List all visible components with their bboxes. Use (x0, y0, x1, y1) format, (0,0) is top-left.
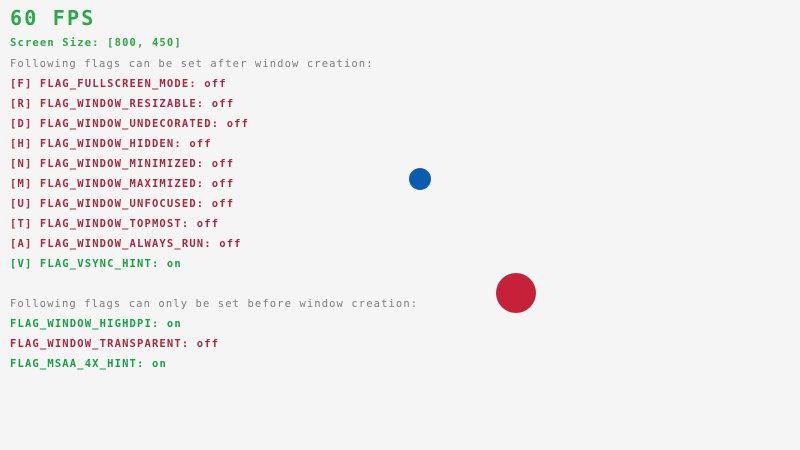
flag-shortcut-key: [H] (10, 138, 40, 150)
flag-shortcut-key: [T] (10, 218, 40, 230)
flag-name: FLAG_WINDOW_ALWAYS_RUN: (40, 238, 219, 250)
flag-shortcut-key: [A] (10, 238, 40, 250)
flag-value: off (204, 78, 226, 90)
flag-value: off (197, 338, 219, 350)
screen-size-label: Screen Size: [800, 450] (10, 38, 182, 49)
flag-name: FLAG_MSAA_4X_HINT: (10, 358, 152, 370)
flag-flag-window-resizable[interactable]: [R] FLAG_WINDOW_RESIZABLE: off (10, 99, 234, 110)
flag-value: on (167, 318, 182, 330)
flag-name: FLAG_WINDOW_UNDECORATED: (40, 118, 227, 130)
flag-name: FLAG_WINDOW_MINIMIZED: (40, 158, 212, 170)
flag-value: off (227, 118, 249, 130)
flag-flag-window-undecorated[interactable]: [D] FLAG_WINDOW_UNDECORATED: off (10, 119, 249, 130)
flag-name: FLAG_WINDOW_RESIZABLE: (40, 98, 212, 110)
flag-shortcut-key: [R] (10, 98, 40, 110)
flag-shortcut-key: [D] (10, 118, 40, 130)
raylib-window-canvas: 60 FPS Screen Size: [800, 450] Following… (0, 0, 800, 450)
flag-name: FLAG_WINDOW_MAXIMIZED: (40, 178, 212, 190)
flag-shortcut-key: [V] (10, 258, 40, 270)
flag-flag-window-transparent: FLAG_WINDOW_TRANSPARENT: off (10, 339, 219, 350)
flag-flag-fullscreen-mode[interactable]: [F] FLAG_FULLSCREEN_MODE: off (10, 79, 227, 90)
flag-value: off (212, 158, 234, 170)
flag-name: FLAG_WINDOW_HIDDEN: (40, 138, 189, 150)
flag-value: off (212, 198, 234, 210)
flag-flag-window-always-run[interactable]: [A] FLAG_WINDOW_ALWAYS_RUN: off (10, 239, 242, 250)
flag-flag-vsync-hint[interactable]: [V] FLAG_VSYNC_HINT: on (10, 259, 182, 270)
flag-flag-window-maximized[interactable]: [M] FLAG_WINDOW_MAXIMIZED: off (10, 179, 234, 190)
flag-value: on (152, 358, 167, 370)
flag-name: FLAG_FULLSCREEN_MODE: (40, 78, 204, 90)
flag-name: FLAG_WINDOW_UNFOCUSED: (40, 198, 212, 210)
flag-flag-msaa-4x-hint: FLAG_MSAA_4X_HINT: on (10, 359, 167, 370)
flag-flag-window-hidden[interactable]: [H] FLAG_WINDOW_HIDDEN: off (10, 139, 212, 150)
flag-value: off (189, 138, 211, 150)
flag-shortcut-key: [N] (10, 158, 40, 170)
flag-value: off (197, 218, 219, 230)
flag-flag-window-topmost[interactable]: [T] FLAG_WINDOW_TOPMOST: off (10, 219, 219, 230)
after-creation-note: Following flags can be set after window … (10, 59, 374, 70)
flag-value: on (167, 258, 182, 270)
flag-value: off (212, 178, 234, 190)
ball-blue (409, 168, 431, 190)
before-creation-note: Following flags can only be set before w… (10, 299, 418, 310)
flag-value: off (219, 238, 241, 250)
flag-flag-window-unfocused[interactable]: [U] FLAG_WINDOW_UNFOCUSED: off (10, 199, 234, 210)
flag-name: FLAG_WINDOW_TRANSPARENT: (10, 338, 197, 350)
flag-name: FLAG_VSYNC_HINT: (40, 258, 167, 270)
flag-shortcut-key: [M] (10, 178, 40, 190)
flag-flag-window-highdpi: FLAG_WINDOW_HIGHDPI: on (10, 319, 182, 330)
flag-shortcut-key: [F] (10, 78, 40, 90)
ball-red (496, 273, 536, 313)
flag-value: off (212, 98, 234, 110)
fps-counter: 60 FPS (10, 8, 95, 28)
flag-shortcut-key: [U] (10, 198, 40, 210)
flag-name: FLAG_WINDOW_HIGHDPI: (10, 318, 167, 330)
flag-name: FLAG_WINDOW_TOPMOST: (40, 218, 197, 230)
flag-flag-window-minimized[interactable]: [N] FLAG_WINDOW_MINIMIZED: off (10, 159, 234, 170)
